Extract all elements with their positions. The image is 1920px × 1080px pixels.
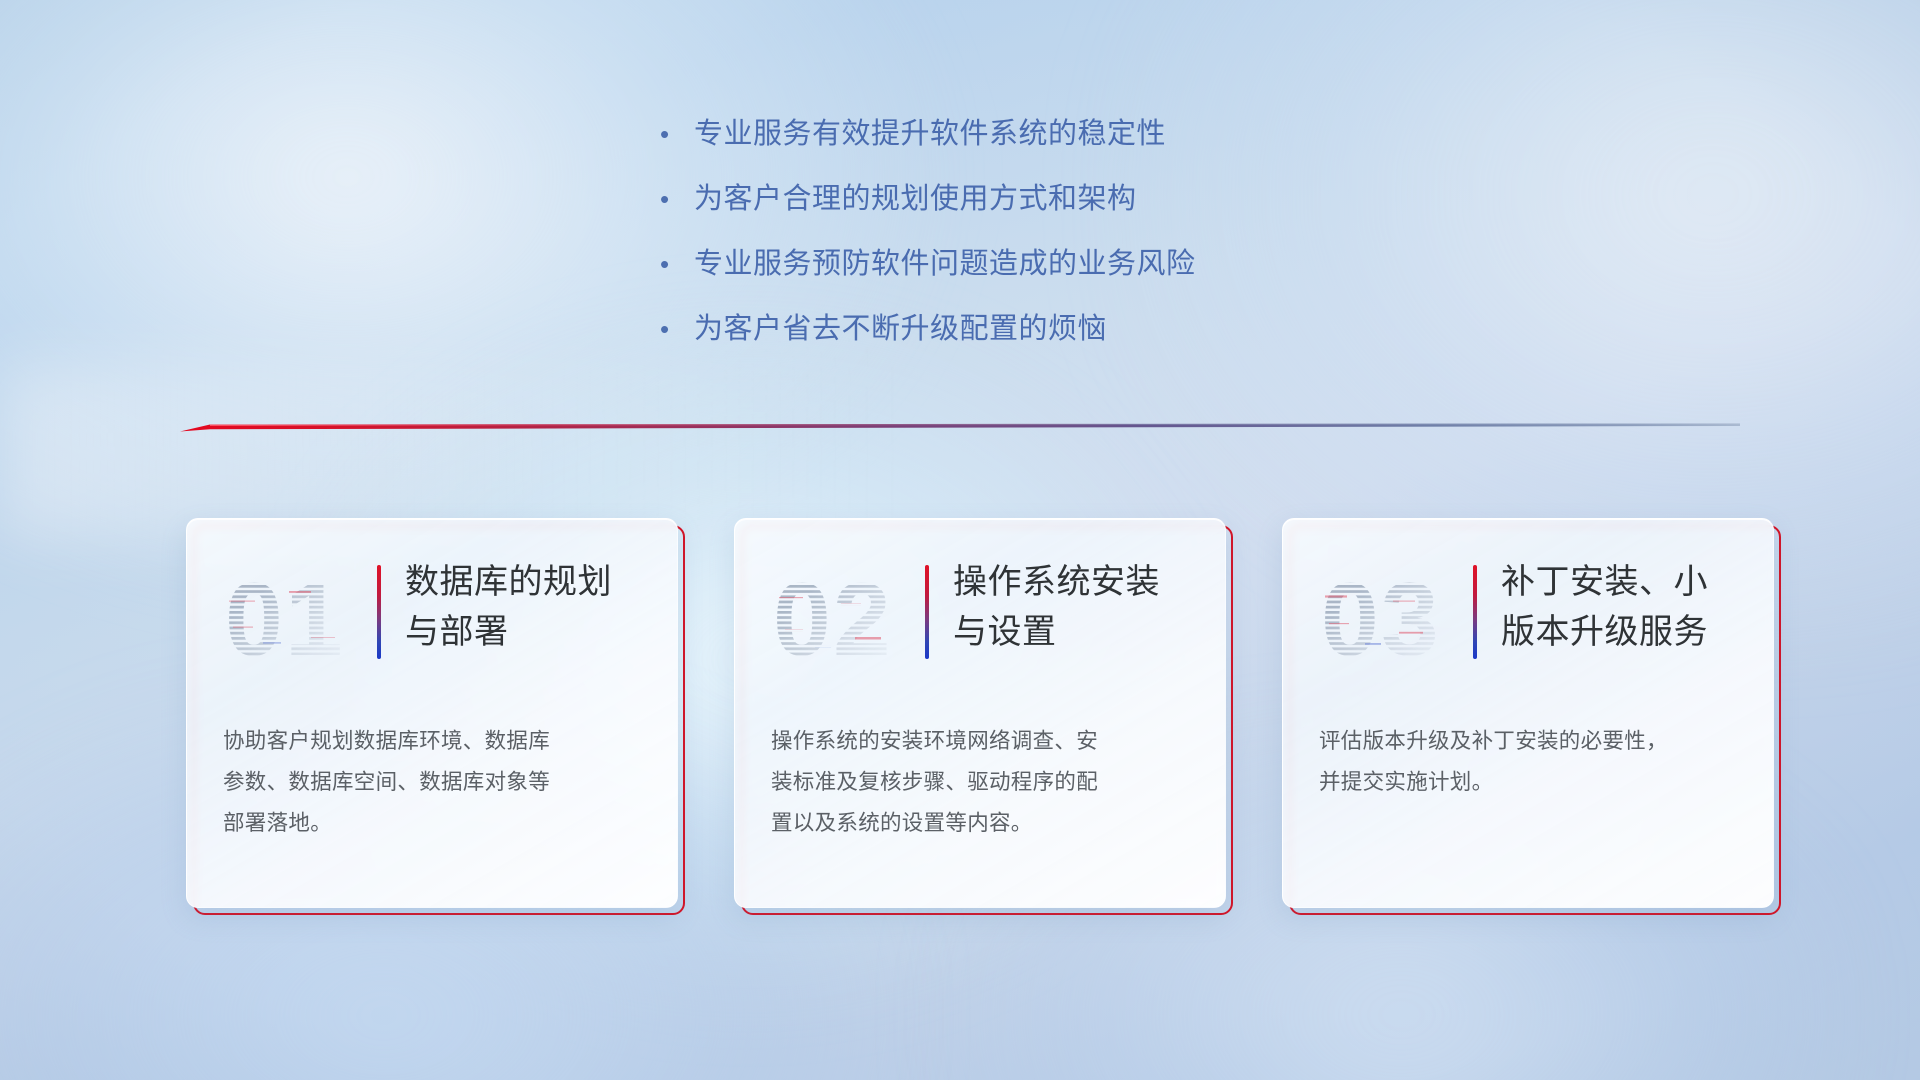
bullet-text: 专业服务预防软件问题造成的业务风险 — [694, 240, 1196, 282]
bullet-text: 专业服务有效提升软件系统的稳定性 — [694, 110, 1166, 152]
bullet-dot-icon: • — [660, 121, 694, 147]
svg-text:01: 01 — [225, 562, 345, 671]
bullet-dot-icon: • — [660, 186, 694, 212]
card-number-striped: 03 — [1319, 559, 1467, 671]
card-description: 操作系统的安装环境网络调查、安 装标准及复核步骤、驱动程序的配 置以及系统的设置… — [771, 721, 1189, 844]
card-description: 协助客户规划数据库环境、数据库 参数、数据库空间、数据库对象等 部署落地。 — [223, 721, 641, 844]
bullet-dot-icon: • — [660, 316, 694, 342]
bullet-dot-icon: • — [660, 251, 694, 277]
card-header: 02 操作系统安装 与设置 — [771, 557, 1189, 675]
card-panel: 02 操作系统安装 与设置 — [734, 518, 1226, 908]
card-header: 01 数据库的规划 与部署 — [223, 557, 641, 675]
card-header: 03 补丁安装、小 版本升级服务 — [1319, 557, 1737, 675]
card-panel: 01 数据库的规划 与部署 — [186, 518, 678, 908]
list-item: • 专业服务预防软件问题造成的业务风险 — [660, 240, 1196, 305]
section-divider — [180, 420, 1740, 436]
benefits-bullet-list: • 专业服务有效提升软件系统的稳定性 • 为客户合理的规划使用方式和架构 • 专… — [660, 110, 1196, 370]
bullet-text: 为客户省去不断升级配置的烦恼 — [694, 305, 1107, 347]
card-title: 补丁安装、小 版本升级服务 — [1501, 557, 1737, 657]
service-card[interactable]: 01 数据库的规划 与部署 — [186, 518, 678, 908]
svg-text:02: 02 — [773, 562, 893, 671]
card-title: 数据库的规划 与部署 — [405, 557, 641, 657]
card-accent-bar — [925, 565, 929, 659]
card-accent-bar — [1473, 565, 1477, 659]
card-accent-bar — [377, 565, 381, 659]
service-card[interactable]: 02 操作系统安装 与设置 — [734, 518, 1226, 908]
card-number-striped: 01 — [223, 559, 371, 671]
service-card[interactable]: 03 补丁安装、小 版本升级服务 — [1282, 518, 1774, 908]
list-item: • 为客户省去不断升级配置的烦恼 — [660, 305, 1196, 370]
card-title: 操作系统安装 与设置 — [953, 557, 1189, 657]
svg-text:03: 03 — [1321, 562, 1441, 671]
list-item: • 为客户合理的规划使用方式和架构 — [660, 175, 1196, 240]
card-description: 评估版本升级及补丁安装的必要性， 并提交实施计划。 — [1319, 721, 1737, 803]
card-number-striped: 02 — [771, 559, 919, 671]
card-panel: 03 补丁安装、小 版本升级服务 — [1282, 518, 1774, 908]
service-card-list: 01 数据库的规划 与部署 — [186, 518, 1774, 908]
list-item: • 专业服务有效提升软件系统的稳定性 — [660, 110, 1196, 175]
bullet-text: 为客户合理的规划使用方式和架构 — [694, 175, 1137, 217]
